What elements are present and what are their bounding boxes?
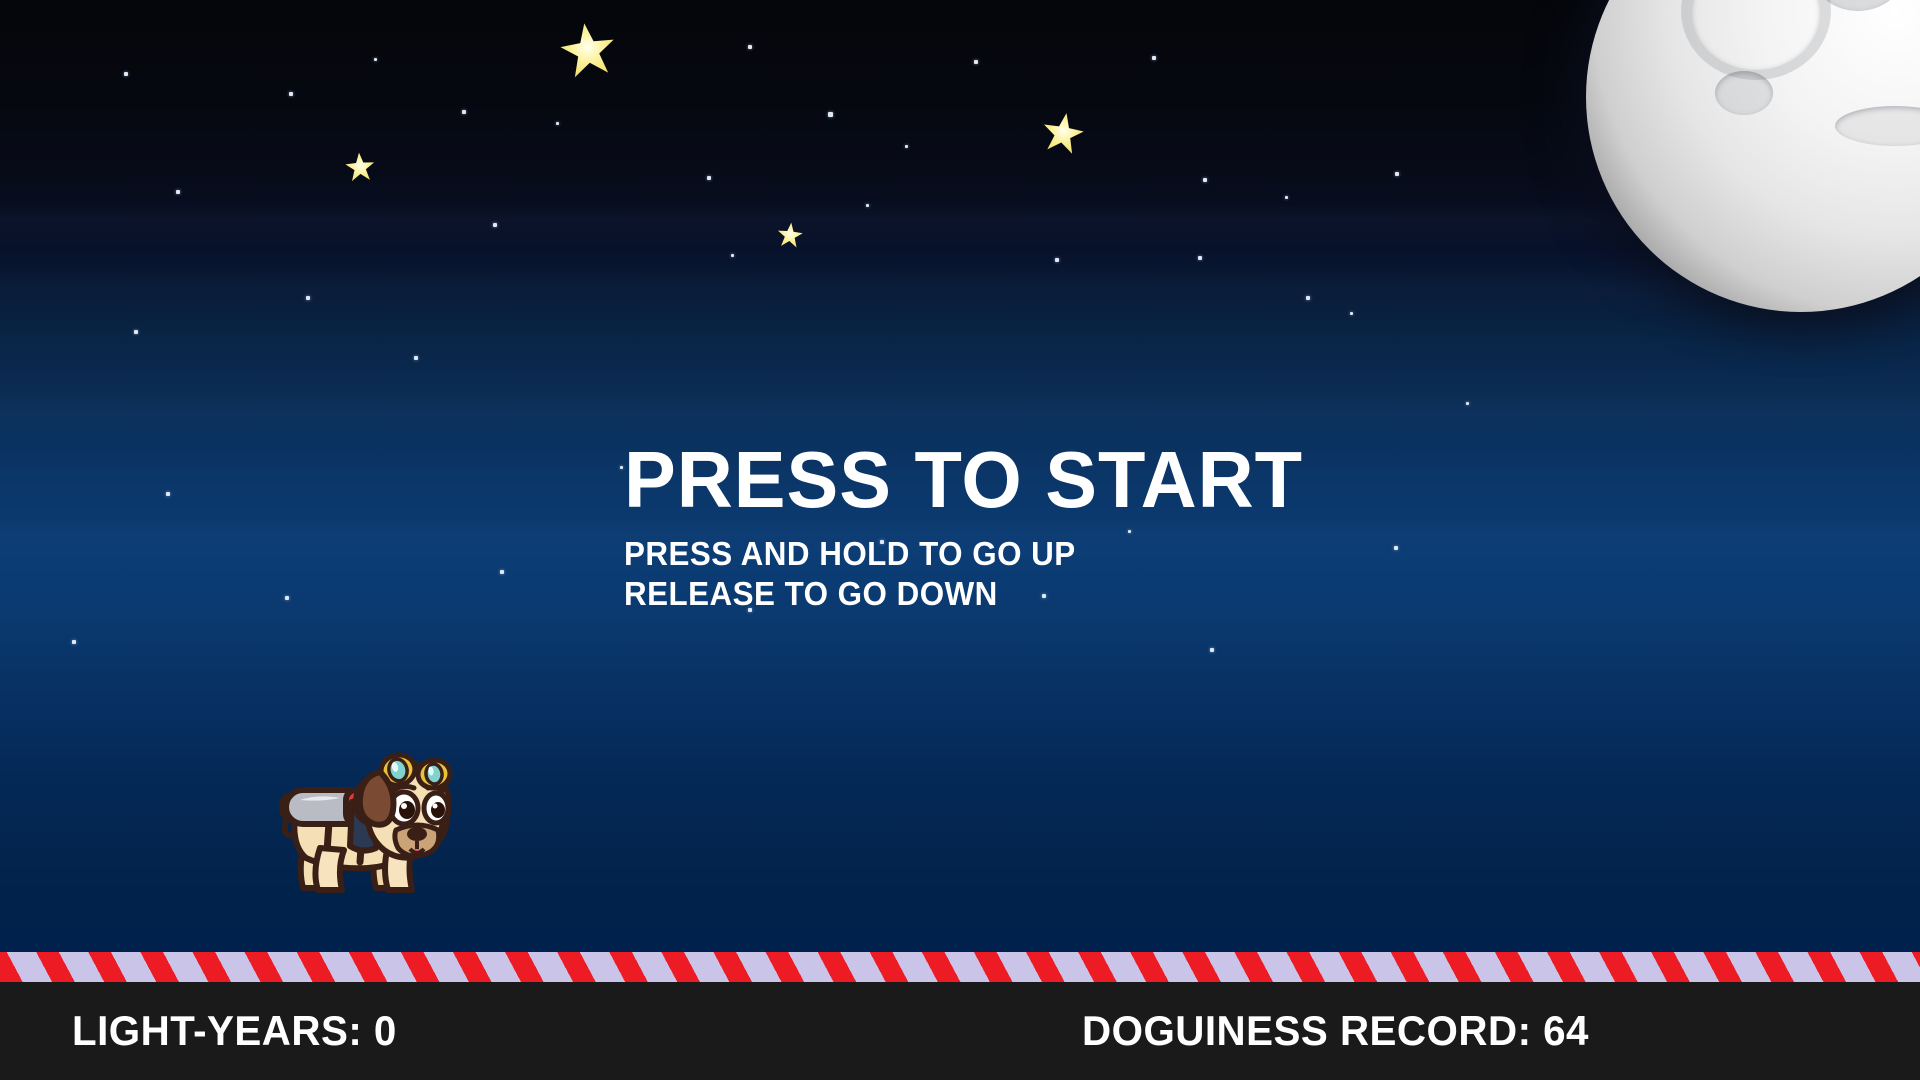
star-icon — [1198, 256, 1202, 260]
star-icon — [374, 58, 377, 61]
star-icon — [1210, 648, 1214, 652]
star-icon — [1152, 56, 1156, 60]
star-icon — [1285, 196, 1288, 199]
star-icon — [1055, 258, 1059, 262]
star-icon — [1306, 296, 1310, 300]
star-icon — [306, 296, 310, 300]
star-icon — [1350, 312, 1353, 315]
star-icon — [500, 570, 504, 574]
star-icon — [556, 122, 559, 125]
score-light-years: LIGHT-YEARS: 0 — [72, 1007, 397, 1055]
ground-hazard-stripes — [0, 952, 1920, 982]
star-icon — [748, 45, 752, 49]
star-icon — [731, 254, 734, 257]
star-icon — [1039, 109, 1088, 158]
star-icon — [556, 18, 619, 81]
instruction-line-2: RELEASE TO GO DOWN — [624, 574, 1479, 614]
star-icon — [620, 466, 623, 469]
star-icon — [176, 190, 180, 194]
star-icon — [866, 204, 869, 207]
game-canvas[interactable]: PRESS TO START PRESS AND HOLD TO GO UP R… — [0, 0, 1920, 1080]
star-icon — [974, 60, 978, 64]
star-icon — [72, 640, 76, 644]
star-icon — [905, 145, 908, 148]
star-icon — [285, 596, 289, 600]
start-prompt[interactable]: PRESS TO START PRESS AND HOLD TO GO UP R… — [624, 440, 1524, 613]
instruction-line-1: PRESS AND HOLD TO GO UP — [624, 534, 1479, 574]
star-icon — [166, 492, 170, 496]
star-icon — [1395, 172, 1399, 176]
star-icon — [1203, 178, 1207, 182]
star-icon — [493, 223, 497, 227]
hud-bar: LIGHT-YEARS: 0 DOGUINESS RECORD: 64 — [0, 982, 1920, 1080]
star-icon — [344, 151, 376, 183]
star-icon — [134, 330, 138, 334]
star-icon — [124, 72, 128, 76]
page-title: PRESS TO START — [624, 440, 1497, 520]
star-icon — [414, 356, 418, 360]
star-icon — [776, 221, 805, 250]
star-icon — [289, 92, 293, 96]
star-icon — [828, 112, 833, 117]
star-icon — [1466, 402, 1469, 405]
record-doguiness: DOGUINESS RECORD: 64 — [1082, 1007, 1589, 1055]
player-pug-sprite[interactable] — [268, 748, 458, 908]
star-icon — [462, 110, 466, 114]
star-icon — [707, 176, 711, 180]
